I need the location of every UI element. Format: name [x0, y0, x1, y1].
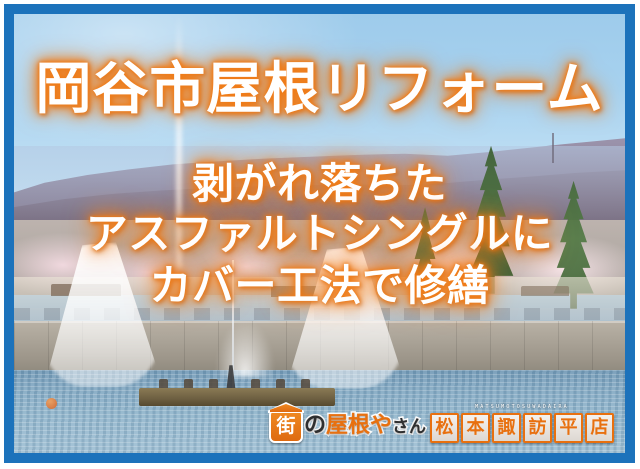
subtitle-line-3: カバー工法で修繕	[14, 265, 625, 307]
transmission-pylon	[552, 133, 554, 163]
page-title: 岡谷市屋根リフォーム	[14, 62, 625, 118]
logo-brand-mark: 街 の屋根やさん	[269, 409, 426, 443]
banner-frame: 岡谷市屋根リフォーム 剥がれ落ちた アスファルトシングルに カバー工法で修繕 街…	[4, 4, 635, 463]
logo-no: の	[304, 413, 326, 438]
store-kanji: 本	[461, 413, 490, 443]
logo-wordmark: の屋根やさん	[304, 415, 426, 437]
logo-ya: や	[370, 413, 392, 438]
subtitle-line-1: 剥がれ落ちた	[14, 163, 625, 205]
store-kanji: 諏	[492, 413, 521, 443]
fountain-center-spray	[216, 321, 274, 377]
roof-reform-banner: 岡谷市屋根リフォーム 剥がれ落ちた アスファルトシングルに カバー工法で修繕 街…	[0, 0, 640, 469]
logo-machi-kanji: 街	[276, 417, 295, 436]
store-kanji: 店	[585, 413, 614, 443]
store-kanji: 平	[554, 413, 583, 443]
buoy	[46, 398, 57, 409]
store-kanji: 松	[430, 413, 459, 443]
house-badge-icon: 街	[269, 409, 303, 443]
logo-san: さん	[392, 417, 426, 437]
store-kanji-boxes: 松 本 諏 訪 平 店	[430, 413, 614, 443]
store-kanji: 訪	[523, 413, 552, 443]
store-name-block: MATSUMOTOSUWADAIRA 松 本 諏 訪 平 店	[430, 405, 614, 443]
logo-yane: 屋根	[326, 413, 370, 438]
company-logo[interactable]: 街 の屋根やさん MATSUMOTOSUWADAIRA 松 本 諏 訪 平 店	[266, 403, 617, 445]
subtitle-line-2: アスファルトシングルに	[14, 213, 625, 255]
house-roof-icon	[268, 402, 304, 413]
store-romaji: MATSUMOTOSUWADAIRA	[430, 405, 614, 410]
